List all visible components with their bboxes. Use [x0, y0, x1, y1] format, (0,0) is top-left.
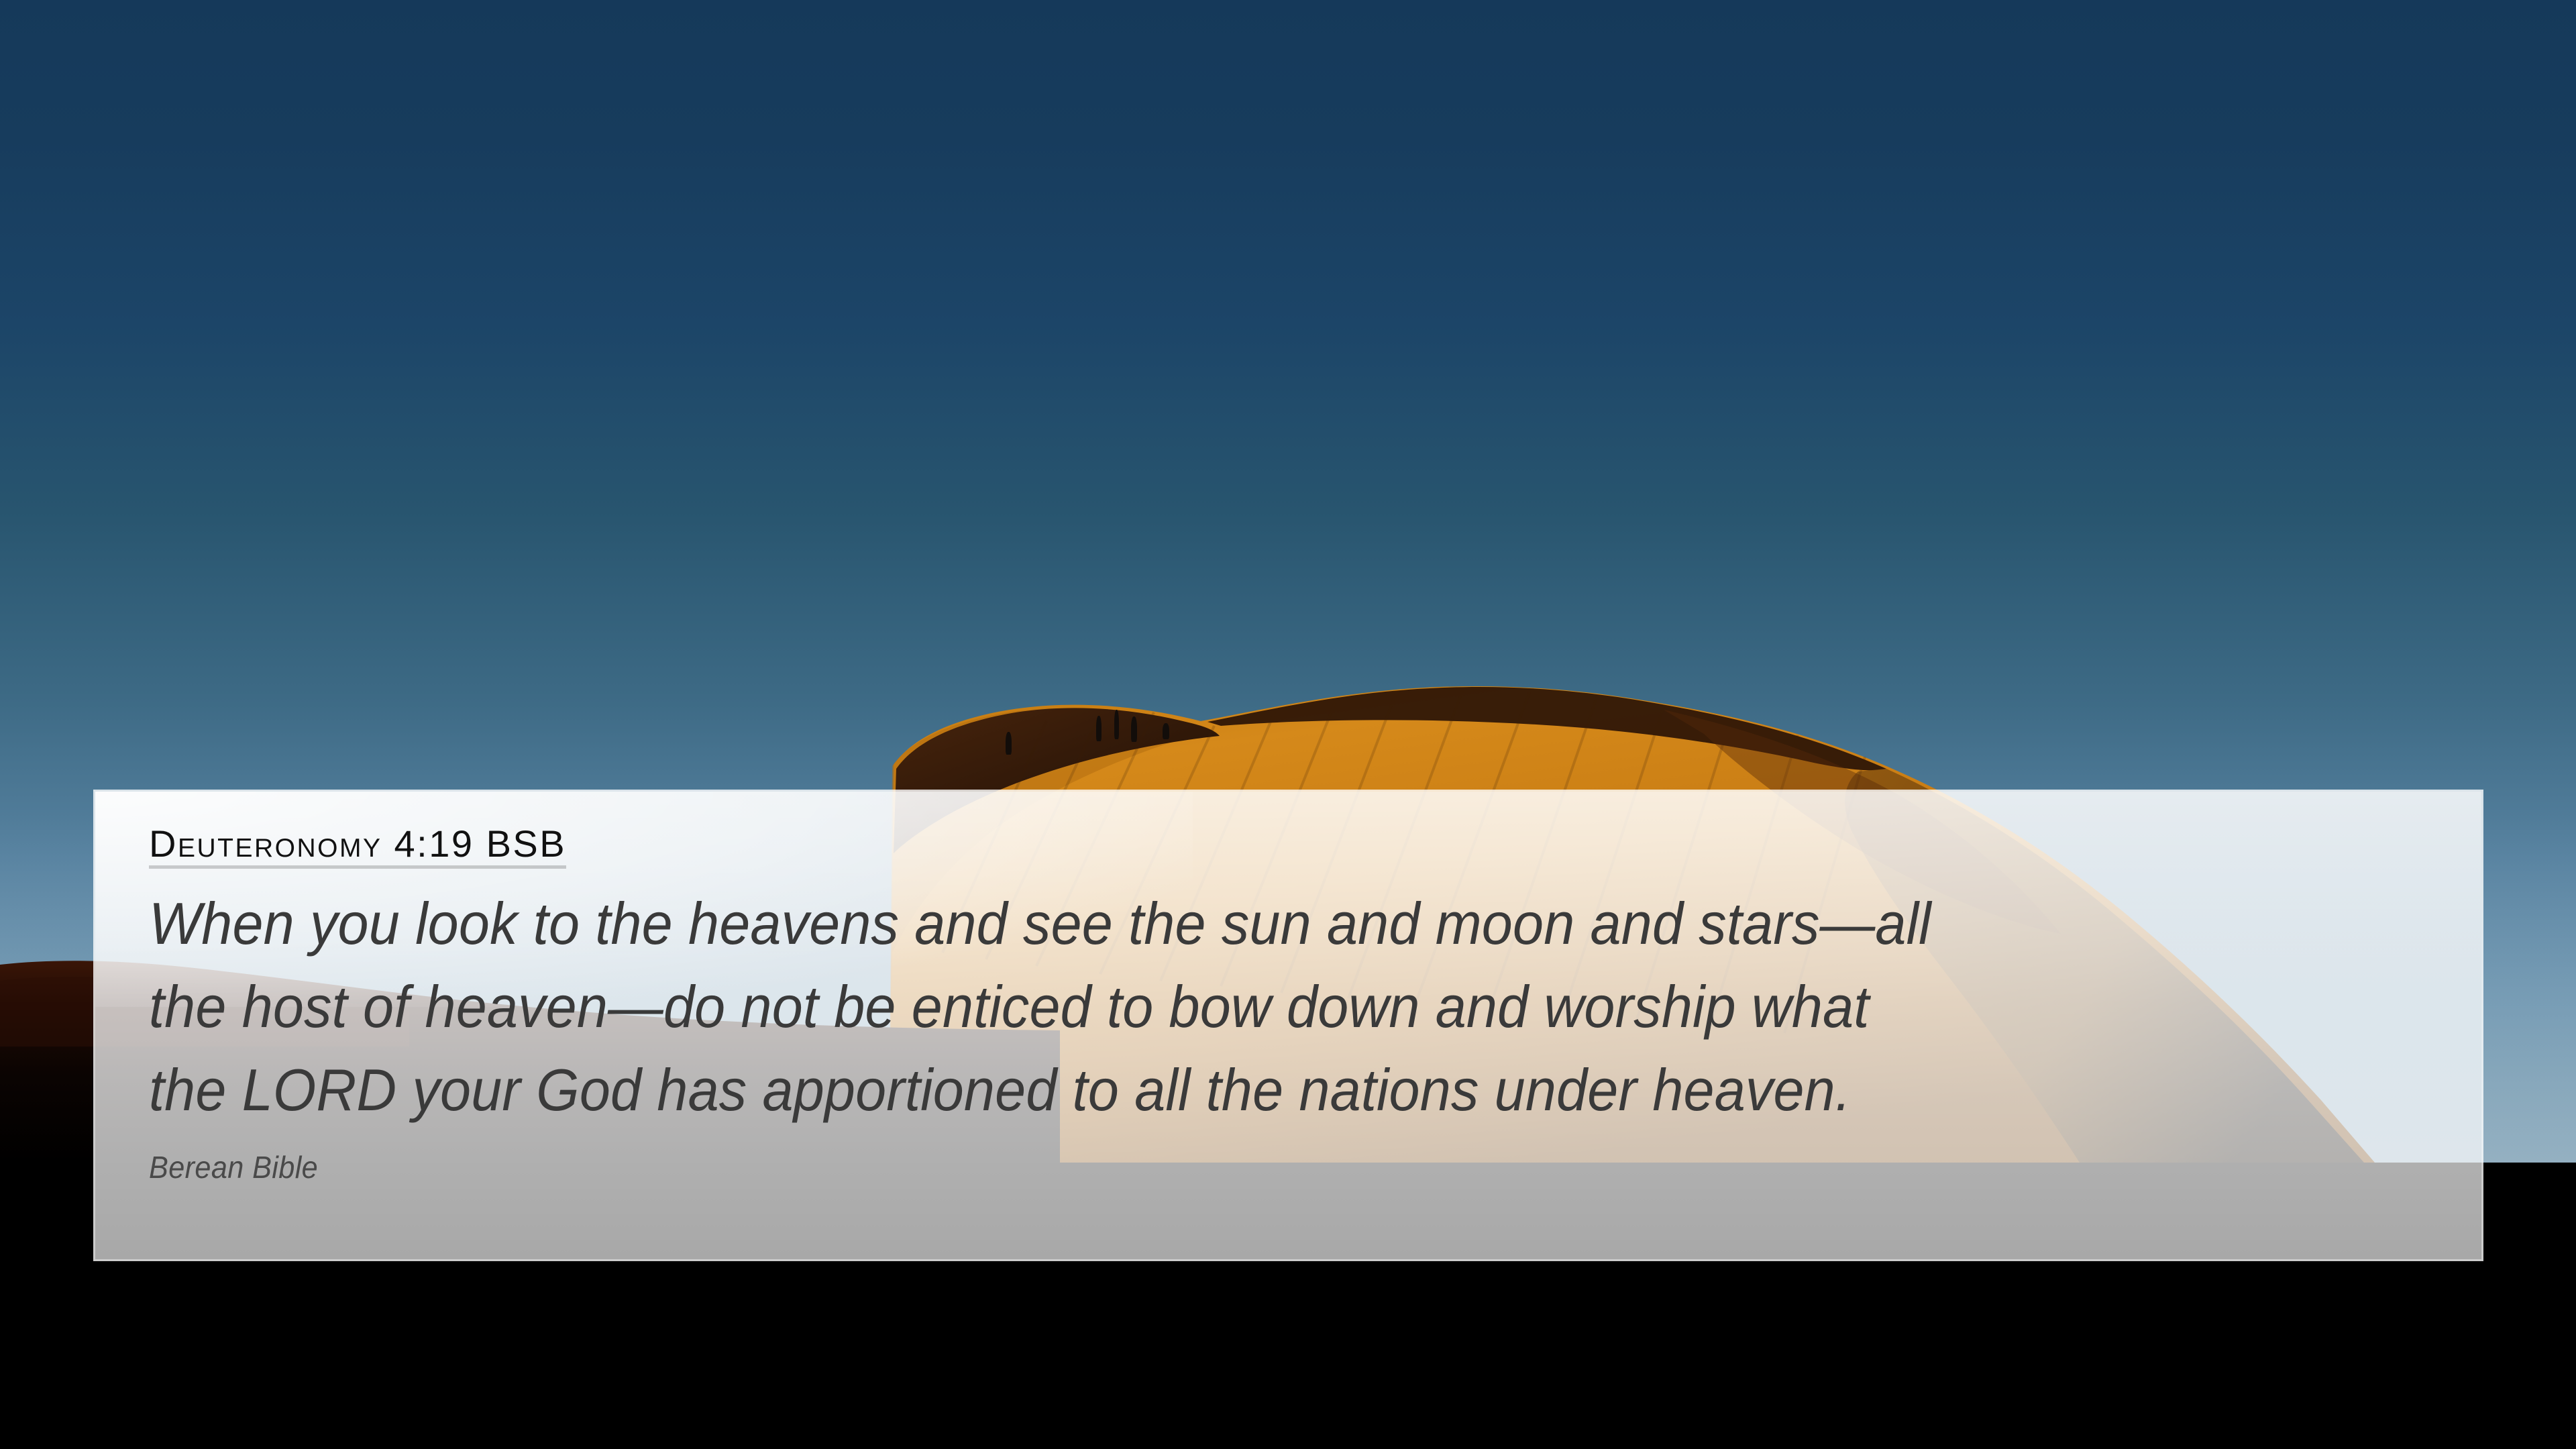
- verse-attribution: Berean Bible: [149, 1149, 2298, 1185]
- verse-reference: Deuteronomy 4:19 BSB: [149, 824, 566, 864]
- verse-text-line-3: the LORD your God has apportioned to all…: [149, 1049, 2298, 1132]
- verse-text: When you look to the heavens and see the…: [149, 882, 2298, 1132]
- verse-text-line-2: the host of heaven—do not be enticed to …: [149, 965, 2298, 1049]
- verse-text-line-1: When you look to the heavens and see the…: [149, 882, 2298, 965]
- verse-reference-block: Deuteronomy 4:19 BSB: [149, 824, 566, 869]
- verse-panel-content: Deuteronomy 4:19 BSB When you look to th…: [95, 792, 2481, 1259]
- screenshot-root: Deuteronomy 4:19 BSB When you look to th…: [0, 0, 2576, 1449]
- verse-quote-panel: Deuteronomy 4:19 BSB When you look to th…: [93, 790, 2483, 1261]
- verse-reference-underline: [149, 865, 566, 869]
